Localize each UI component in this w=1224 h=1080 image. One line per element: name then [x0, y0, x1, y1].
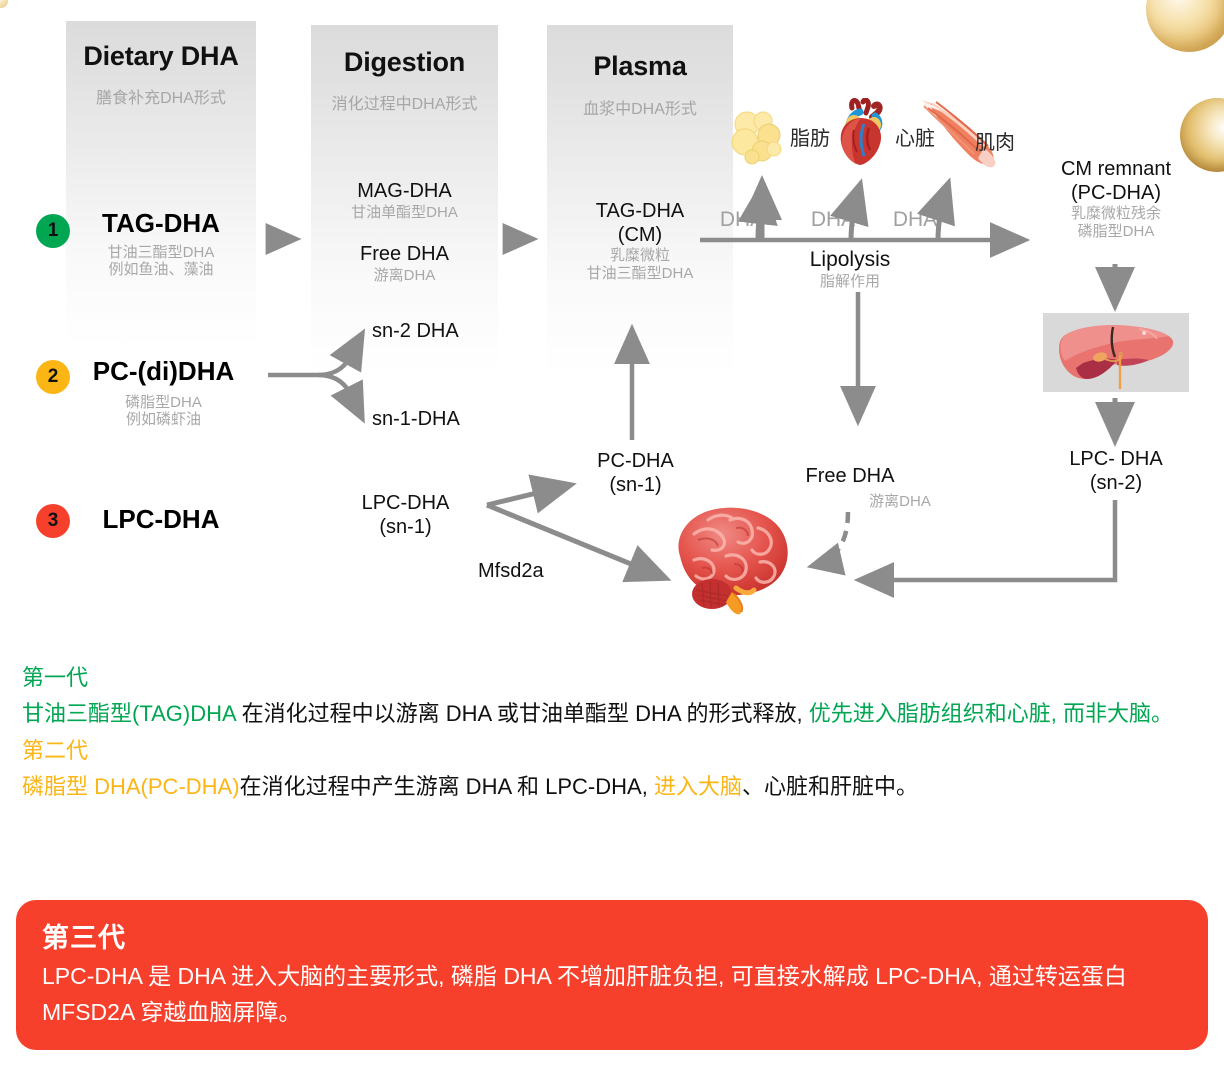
- gen2-part-b: 在消化过程中产生游离 DHA 和 LPC-DHA,: [240, 774, 654, 799]
- generation-notes: 第一代 甘油三酯型(TAG)DHA 在消化过程中以游离 DHA 或甘油单酯型 D…: [22, 660, 1202, 805]
- gen1-part-a: 甘油三酯型(TAG)DHA: [22, 701, 235, 726]
- gen1-part-b: 在消化过程中以游离 DHA 或甘油单酯型 DHA 的形式释放,: [235, 701, 808, 726]
- gen1-header: 第一代: [22, 660, 1202, 696]
- banner-body: LPC-DHA 是 DHA 进入大脑的主要形式, 磷脂 DHA 不增加肝脏负担,…: [42, 959, 1182, 1030]
- flow-arrows: [0, 0, 1224, 660]
- arrow-pcdidha-to-sn1: [318, 375, 362, 418]
- gen2-body: 磷脂型 DHA(PC-DHA)在消化过程中产生游离 DHA 和 LPC-DHA,…: [22, 769, 1202, 805]
- arrow-lipolysis-to-heart: [851, 185, 860, 240]
- gen2-part-a: 磷脂型 DHA(PC-DHA): [22, 774, 240, 799]
- gen2-part-d: 、心脏和肝脏中。: [742, 774, 918, 799]
- third-generation-banner: 第三代 LPC-DHA 是 DHA 进入大脑的主要形式, 磷脂 DHA 不增加肝…: [16, 900, 1208, 1050]
- arrow-pcdidha-to-sn2: [318, 334, 362, 375]
- arrow-free-dha-to-brain-dashed: [812, 512, 848, 566]
- gen2-part-c: 进入大脑: [654, 774, 742, 799]
- diagram-canvas: Dietary DHA 膳食补充DHA形式 Digestion 消化过程中DHA…: [0, 0, 1224, 1080]
- banner-header: 第三代: [42, 916, 1182, 955]
- arrow-lpc-sn1-to-pc-dha: [487, 485, 570, 505]
- gen1-part-c: 优先进入脂肪组织和心脏, 而非大脑。: [809, 701, 1173, 726]
- gen1-body: 甘油三酯型(TAG)DHA 在消化过程中以游离 DHA 或甘油单酯型 DHA 的…: [22, 696, 1202, 732]
- arrow-lipolysis-to-muscle: [938, 184, 948, 240]
- arrow-lpc-sn2-to-brain: [860, 500, 1115, 580]
- arrow-lpc-sn1-to-brain-mfsd2a: [487, 505, 665, 578]
- gen2-header: 第二代: [22, 733, 1202, 769]
